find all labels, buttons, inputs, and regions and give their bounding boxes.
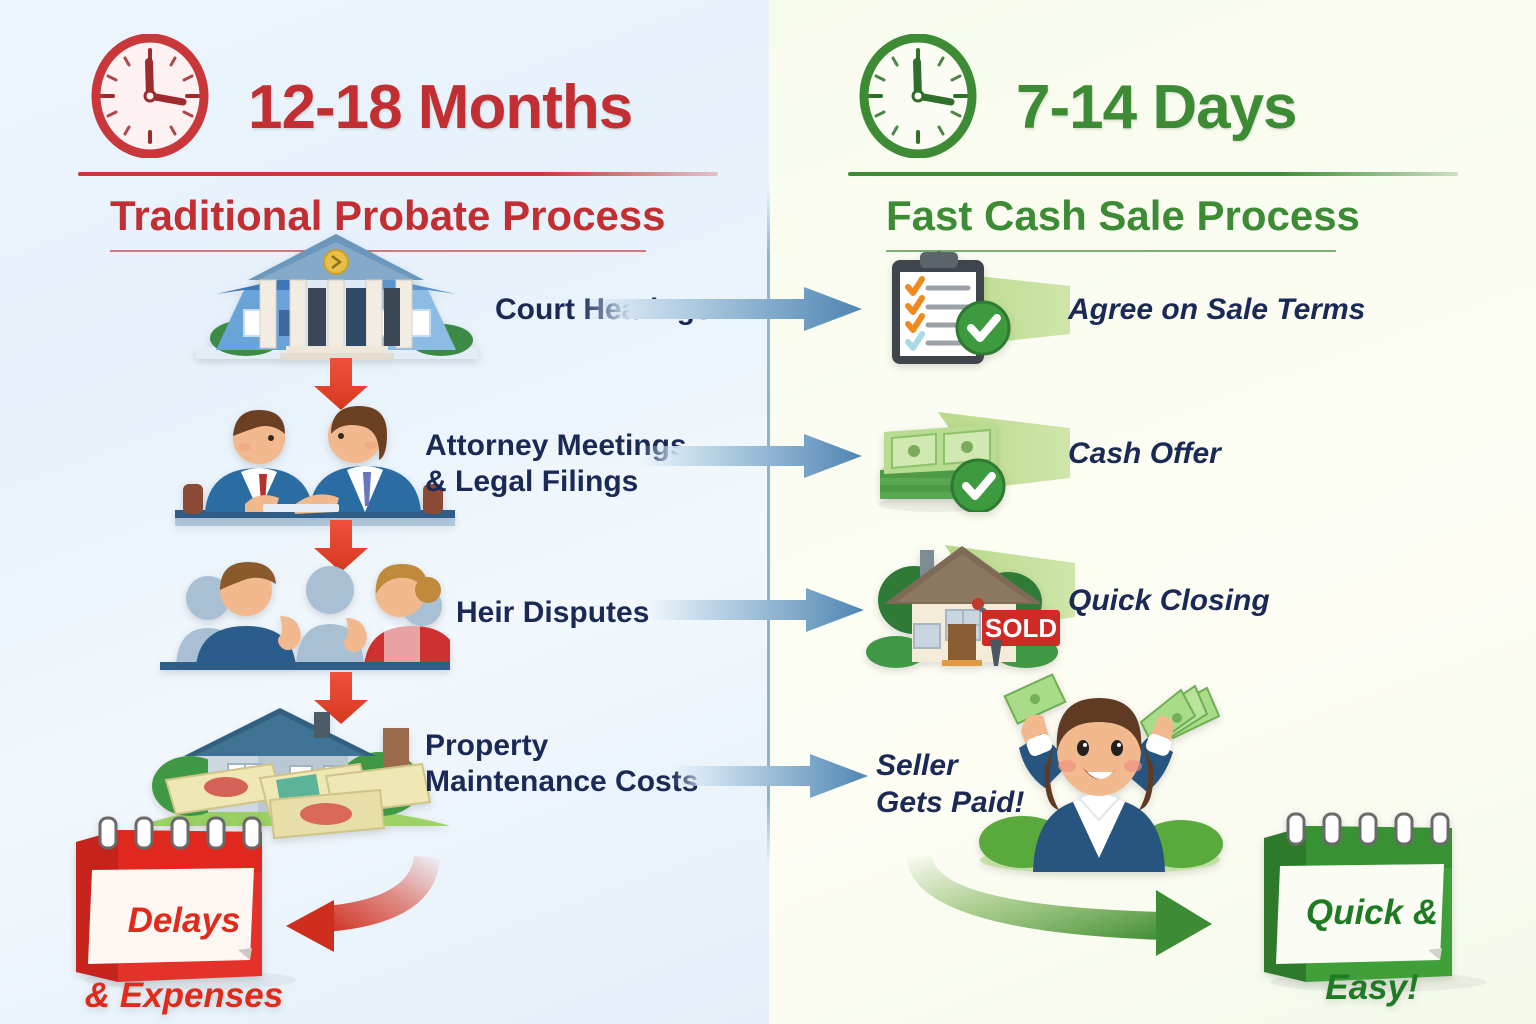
right-arrow-blue bbox=[672, 754, 868, 803]
right-outcome-line2: Easy! bbox=[1325, 968, 1418, 1007]
right-outcome-line1: Quick & bbox=[1306, 893, 1438, 932]
right-header-rule bbox=[848, 172, 1458, 176]
right-step-label-4: Seller Gets Paid! bbox=[876, 748, 1024, 821]
left-outcome-text: Delays & Expenses bbox=[84, 864, 284, 1015]
right-step-label-2: Cash Offer bbox=[1068, 436, 1221, 473]
cash-stack-icon bbox=[866, 412, 1016, 517]
courthouse-illustration bbox=[186, 232, 486, 377]
right-step-label-3: Quick Closing bbox=[1068, 583, 1270, 620]
right-title: Fast Cash Sale Process bbox=[886, 192, 1360, 240]
right-arrow-blue bbox=[580, 287, 862, 336]
clock-icon bbox=[88, 34, 212, 158]
left-outcome-line2: & Expenses bbox=[85, 976, 283, 1015]
right-timeframe: 7-14 Days bbox=[1016, 72, 1297, 143]
left-step-label-3: Heir Disputes bbox=[456, 595, 649, 631]
clock-icon bbox=[856, 34, 980, 158]
sold-sign-text: SOLD bbox=[985, 613, 1057, 643]
right-arrow-blue bbox=[648, 588, 864, 637]
curved-right-arrow-green bbox=[900, 838, 1230, 983]
left-header-rule bbox=[78, 172, 718, 176]
right-arrow-blue bbox=[640, 434, 862, 483]
clipboard-checklist-icon bbox=[884, 250, 1016, 373]
left-outcome-line1: Delays bbox=[128, 901, 241, 940]
infographic-canvas: 12-18 Months Traditional Probate Process bbox=[0, 0, 1536, 1024]
left-timeframe: 12-18 Months bbox=[248, 72, 632, 143]
sold-house-icon: SOLD bbox=[856, 540, 1066, 683]
right-outcome-text: Quick & Easy! bbox=[1274, 856, 1470, 1007]
left-step-label-4: Property Maintenance Costs bbox=[425, 728, 698, 800]
heir-dispute-illustration bbox=[160, 548, 450, 675]
right-step-label-1: Agree on Sale Terms bbox=[1068, 292, 1365, 329]
